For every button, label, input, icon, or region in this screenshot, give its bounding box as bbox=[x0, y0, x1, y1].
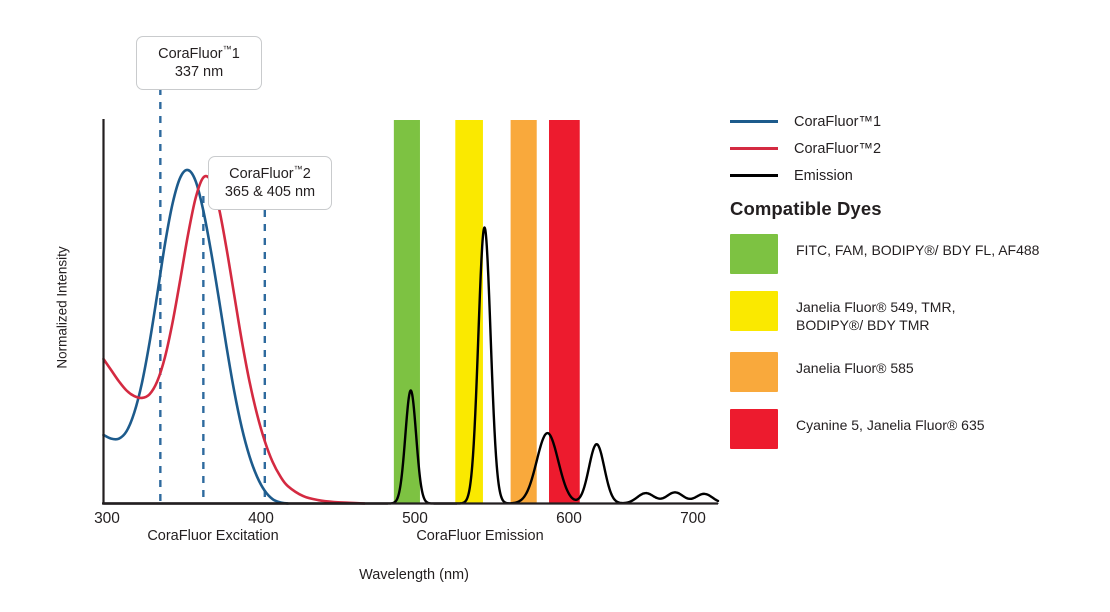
callout-cf2-line2: 365 & 405 nm bbox=[221, 184, 319, 202]
spectra-plot bbox=[0, 0, 760, 560]
compatible-dyes-title: Compatible Dyes bbox=[730, 198, 882, 220]
chart-canvas: CoraFluor™1 337 nm CoraFluor™2 365 & 405… bbox=[0, 0, 1110, 612]
legend-line-swatch bbox=[730, 174, 778, 177]
legend-item-2: CoraFluor™2 bbox=[730, 135, 1090, 162]
x-tick-label-300: 300 bbox=[77, 510, 137, 528]
compatible-dyes-list: FITC, FAM, BODIPY®/ BDY FL, AF488Janelia… bbox=[730, 234, 1102, 466]
legend-item-3: Emission bbox=[730, 162, 1090, 189]
series-legend: CoraFluor™1CoraFluor™2Emission bbox=[730, 108, 1090, 189]
dye-row-2: Janelia Fluor® 549, TMR,BODIPY®/ BDY TMR bbox=[730, 291, 1102, 335]
legend-item-label: Emission bbox=[794, 168, 853, 184]
dye-color-swatch bbox=[730, 352, 778, 392]
dye-row-4: Cyanine 5, Janelia Fluor® 635 bbox=[730, 409, 1102, 449]
legend-item-label: CoraFluor™1 bbox=[794, 114, 881, 130]
dye-label: Cyanine 5, Janelia Fluor® 635 bbox=[796, 409, 985, 434]
dye-color-swatch bbox=[730, 234, 778, 274]
x-tick-label-600: 600 bbox=[539, 510, 599, 528]
callout-cf1-line2: 337 nm bbox=[149, 64, 249, 82]
legend-line-swatch bbox=[730, 147, 778, 150]
dye-label: Janelia Fluor® 585 bbox=[796, 352, 914, 377]
legend-line-swatch bbox=[730, 120, 778, 123]
dye-label: FITC, FAM, BODIPY®/ BDY FL, AF488 bbox=[796, 234, 1039, 259]
x-tick-label-700: 700 bbox=[663, 510, 723, 528]
callout-corafluor-1: CoraFluor™1 337 nm bbox=[136, 36, 262, 90]
curve-corafluor-1 bbox=[104, 170, 288, 504]
dye-color-swatch bbox=[730, 409, 778, 449]
callout-cf1-line1: CoraFluor™1 bbox=[149, 44, 249, 64]
x-tick-label-500: 500 bbox=[385, 510, 445, 528]
callout-corafluor-2: CoraFluor™2 365 & 405 nm bbox=[208, 156, 332, 210]
dye-label: Janelia Fluor® 549, TMR,BODIPY®/ BDY TMR bbox=[796, 291, 955, 335]
legend-item-1: CoraFluor™1 bbox=[730, 108, 1090, 135]
dye-row-1: FITC, FAM, BODIPY®/ BDY FL, AF488 bbox=[730, 234, 1102, 274]
excitation-marker-lines bbox=[160, 88, 264, 504]
y-axis-title: Normalized Intensity bbox=[55, 218, 70, 398]
x-sublabel-emission: CoraFluor Emission bbox=[385, 528, 575, 544]
x-axis-title: Wavelength (nm) bbox=[0, 567, 828, 583]
curve-corafluor-2 bbox=[104, 176, 365, 503]
dye-color-swatch bbox=[730, 291, 778, 331]
legend-item-label: CoraFluor™2 bbox=[794, 141, 881, 157]
orange-band bbox=[511, 120, 537, 504]
x-tick-label-400: 400 bbox=[231, 510, 291, 528]
callout-cf2-line1: CoraFluor™2 bbox=[221, 164, 319, 184]
x-sublabel-excitation: CoraFluor Excitation bbox=[118, 528, 308, 544]
dye-row-3: Janelia Fluor® 585 bbox=[730, 352, 1102, 392]
wavelength-bands bbox=[394, 120, 580, 504]
